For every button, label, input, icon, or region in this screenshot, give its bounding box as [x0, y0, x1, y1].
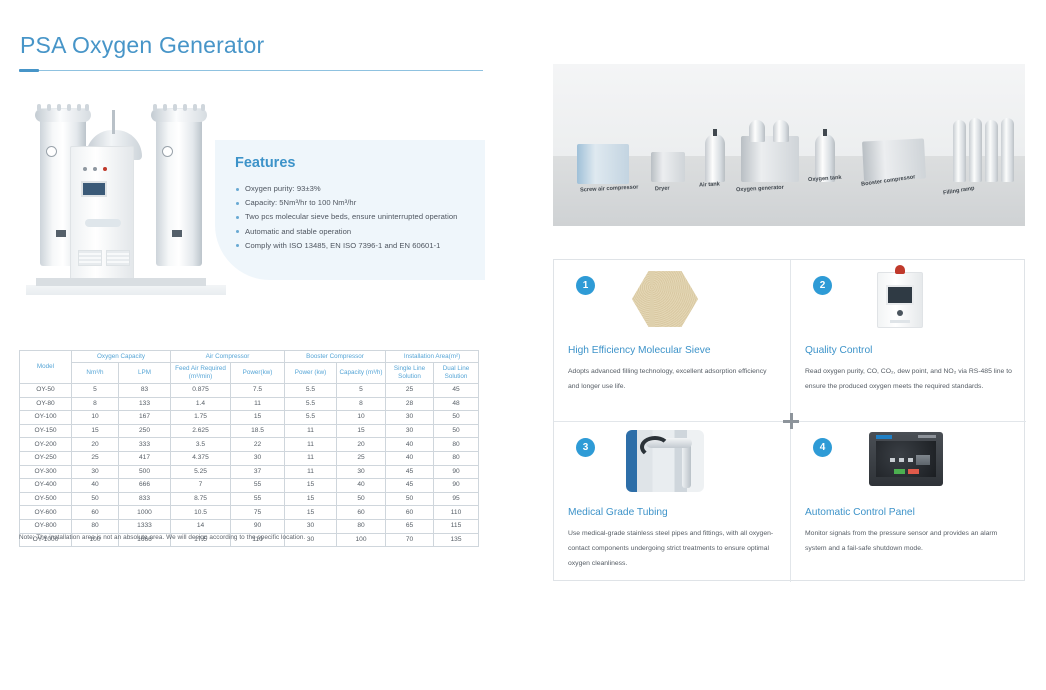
col-header-feed-air-required: Feed Air Required (m³/min) — [171, 363, 231, 384]
feature-item: Comply with ISO 13485, EN ISO 7396-1 and… — [236, 239, 475, 253]
cell-dual-line: 80 — [434, 451, 479, 465]
cell-nm3h: 40 — [72, 479, 119, 493]
cell-lpm: 167 — [119, 411, 171, 425]
cell-single-line: 40 — [386, 438, 434, 452]
card-description: Adopts advanced filling technology, exce… — [568, 364, 778, 394]
cell-booster-power: 11 — [285, 451, 337, 465]
table-row: OY-8008013331490308065115 — [20, 519, 479, 533]
card-title: Quality Control — [805, 345, 1016, 356]
table-row: OY-100101671.75155.5103050 — [20, 411, 479, 425]
cell-nm3h: 15 — [72, 424, 119, 438]
label-dryer: Dryer — [655, 186, 670, 193]
col-header-booster-capacity: Capacity (m³/h) — [337, 363, 386, 384]
cell-lpm: 133 — [119, 397, 171, 411]
cell-model: OY-500 — [20, 492, 72, 506]
hmi-brand-logo — [876, 435, 892, 439]
indicator-led-2 — [93, 167, 97, 171]
right-column: Screw air compressor Dryer Air tank Oxyg… — [553, 0, 1028, 690]
cell-model: OY-200 — [20, 438, 72, 452]
product-pipe — [112, 110, 115, 134]
cell-dual-line: 110 — [434, 506, 479, 520]
cell-nm3h: 60 — [72, 506, 119, 520]
oxygen-gen-vessel-b — [773, 120, 789, 142]
oxygen-tank-nozzle — [823, 129, 827, 136]
cell-booster-capacity: 50 — [337, 492, 386, 506]
title-divider-accent — [19, 69, 39, 72]
cell-nm3h: 30 — [72, 465, 119, 479]
table-note: Note: The installation area is not an ab… — [19, 534, 305, 541]
cell-booster-power: 5.5 — [285, 397, 337, 411]
filling-cylinder-3 — [985, 120, 998, 182]
analyzer-knob — [897, 310, 903, 316]
cell-dual-line: 95 — [434, 492, 479, 506]
table-row: OY-250254174.3753011254080 — [20, 451, 479, 465]
vessel-tag-left — [56, 230, 66, 237]
cell-booster-power: 11 — [285, 465, 337, 479]
cell-feed-air: 3.5 — [171, 438, 231, 452]
label-air-tank: Air tank — [699, 181, 720, 188]
cell-air-power: 30 — [231, 451, 285, 465]
page-title: PSA Oxygen Generator — [20, 32, 264, 59]
col-header-booster-power: Power (kw) — [285, 363, 337, 384]
col-group-booster-compressor: Booster Compressor — [285, 351, 386, 363]
feature-item: Automatic and stable operation — [236, 225, 475, 239]
cell-model: OY-80 — [20, 397, 72, 411]
feature-card-molecular-sieve: 1 High Efficiency Molecular Sieve Adopts… — [554, 260, 790, 421]
table-row: OY-8081331.4115.582848 — [20, 397, 479, 411]
card-description: Use medical-grade stainless steel pipes … — [568, 526, 778, 571]
cell-air-power: 37 — [231, 465, 285, 479]
table-row: OY-505830.8757.55.552545 — [20, 384, 479, 398]
col-header-lpm: LPM — [119, 363, 171, 384]
hmi-display — [876, 441, 936, 477]
vessel-bolts-right — [151, 104, 207, 111]
col-group-oxygen-capacity: Oxygen Capacity — [72, 351, 171, 363]
features-heading: Features — [235, 155, 295, 171]
cell-single-line: 70 — [386, 533, 434, 547]
cell-lpm: 666 — [119, 479, 171, 493]
feature-item: Capacity: 5Nm³/hr to 100 Nm³/hr — [236, 196, 475, 210]
cell-booster-power: 11 — [285, 438, 337, 452]
cell-lpm: 833 — [119, 492, 171, 506]
cell-feed-air: 1.75 — [171, 411, 231, 425]
cell-lpm: 1000 — [119, 506, 171, 520]
feature-item: Oxygen purity: 93±3% — [236, 182, 475, 196]
stainless-steel-tubing-image — [626, 430, 704, 492]
vessel-tag-right — [172, 230, 182, 237]
cell-booster-power: 15 — [285, 506, 337, 520]
feature-card-quality-control: 2 Quality Control Read oxygen purity, CO… — [790, 260, 1026, 421]
features-card: Features Oxygen purity: 93±3% Capacity: … — [215, 140, 485, 280]
table-row: OY-4004066675515404590 — [20, 479, 479, 493]
cell-booster-power: 5.5 — [285, 384, 337, 398]
oxygen-gen-vessel-a — [749, 120, 765, 142]
cell-lpm: 500 — [119, 465, 171, 479]
feature-item: Two pcs molecular sieve beds, ensure uni… — [236, 210, 475, 224]
table-row: OY-200203333.52211204080 — [20, 438, 479, 452]
table-row: OY-300305005.253711304590 — [20, 465, 479, 479]
filling-cylinder-2 — [969, 118, 982, 182]
equipment-booster-compressor — [862, 138, 926, 181]
col-header-nm3h: Nm³/h — [72, 363, 119, 384]
hmi-readout — [916, 455, 930, 465]
cell-booster-capacity: 15 — [337, 424, 386, 438]
equipment-dryer — [651, 152, 685, 182]
cell-lpm: 333 — [119, 438, 171, 452]
cell-model: OY-400 — [20, 479, 72, 493]
analyzer-display — [886, 285, 914, 305]
filling-cylinder-4 — [1001, 118, 1014, 182]
cell-single-line: 60 — [386, 506, 434, 520]
cell-dual-line: 115 — [434, 519, 479, 533]
cell-model: OY-600 — [20, 506, 72, 520]
card-title: Automatic Control Panel — [805, 507, 1016, 518]
cell-feed-air: 4.375 — [171, 451, 231, 465]
cell-booster-capacity: 10 — [337, 411, 386, 425]
cell-nm3h: 80 — [72, 519, 119, 533]
analyzer-brand-logo — [890, 320, 910, 323]
cell-booster-power: 5.5 — [285, 411, 337, 425]
cell-nm3h: 5 — [72, 384, 119, 398]
cell-single-line: 45 — [386, 465, 434, 479]
cell-air-power: 55 — [231, 479, 285, 493]
feature-cards-grid: 1 High Efficiency Molecular Sieve Adopts… — [553, 259, 1025, 581]
cell-nm3h: 25 — [72, 451, 119, 465]
product-image — [26, 100, 226, 295]
cabinet-hmi-screen — [81, 181, 107, 197]
cell-lpm: 1333 — [119, 519, 171, 533]
cell-air-power: 18.5 — [231, 424, 285, 438]
cell-single-line: 30 — [386, 411, 434, 425]
cell-booster-capacity: 60 — [337, 506, 386, 520]
cell-single-line: 30 — [386, 424, 434, 438]
cell-single-line: 28 — [386, 397, 434, 411]
cell-dual-line: 135 — [434, 533, 479, 547]
cell-dual-line: 50 — [434, 424, 479, 438]
cell-single-line: 25 — [386, 384, 434, 398]
col-header-model: Model — [20, 351, 72, 384]
table-row: OY-60060100010.575156060110 — [20, 506, 479, 520]
cell-booster-capacity: 80 — [337, 519, 386, 533]
feature-card-control-panel: 4 Automatic Control Panel Monitor signal… — [790, 421, 1026, 582]
filling-cylinder-1 — [953, 120, 966, 182]
cell-feed-air: 14 — [171, 519, 231, 533]
cell-dual-line: 45 — [434, 384, 479, 398]
col-header-single-line-solution: Single Line Solution — [386, 363, 434, 384]
card-number-badge: 4 — [813, 438, 832, 457]
specification-table: Model Oxygen Capacity Air Compressor Boo… — [19, 350, 479, 547]
cell-lpm: 417 — [119, 451, 171, 465]
tubing-hose — [640, 436, 670, 458]
cell-booster-capacity: 20 — [337, 438, 386, 452]
cell-model: OY-800 — [20, 519, 72, 533]
cell-dual-line: 90 — [434, 479, 479, 493]
title-divider — [19, 70, 483, 71]
hmi-model-text — [918, 435, 936, 438]
cell-model: OY-300 — [20, 465, 72, 479]
hmi-stop-button — [908, 469, 919, 474]
air-tank-nozzle — [713, 129, 717, 136]
cell-air-power: 15 — [231, 411, 285, 425]
feature-card-medical-tubing: 3 Medical Grade Tubing Use medical-grade… — [554, 421, 790, 582]
cell-single-line: 40 — [386, 451, 434, 465]
cell-feed-air: 1.4 — [171, 397, 231, 411]
cell-lpm: 83 — [119, 384, 171, 398]
table-row: OY-500508338.755515505095 — [20, 492, 479, 506]
cell-nm3h: 20 — [72, 438, 119, 452]
cell-booster-capacity: 25 — [337, 451, 386, 465]
quality-control-analyzer-image — [877, 272, 923, 328]
features-list: Oxygen purity: 93±3% Capacity: 5Nm³/hr t… — [236, 182, 475, 253]
cell-booster-power: 15 — [285, 492, 337, 506]
cell-dual-line: 90 — [434, 465, 479, 479]
cell-booster-capacity: 8 — [337, 397, 386, 411]
equipment-air-tank — [705, 134, 725, 182]
cell-air-power: 22 — [231, 438, 285, 452]
cell-air-power: 55 — [231, 492, 285, 506]
col-group-air-compressor: Air Compressor — [171, 351, 285, 363]
table-row: OY-150152502.62518.511153050 — [20, 424, 479, 438]
cell-dual-line: 80 — [434, 438, 479, 452]
cell-nm3h: 10 — [72, 411, 119, 425]
card-description: Read oxygen purity, CO, CO₂, dew point, … — [805, 364, 1014, 394]
cell-booster-power: 30 — [285, 519, 337, 533]
product-floor — [26, 285, 226, 295]
cell-air-power: 75 — [231, 506, 285, 520]
cell-feed-air: 0.875 — [171, 384, 231, 398]
cell-air-power: 90 — [231, 519, 285, 533]
plant-room-scene-image: Screw air compressor Dryer Air tank Oxyg… — [553, 64, 1025, 226]
cell-single-line: 45 — [386, 479, 434, 493]
left-column: PSA Oxygen Generator — [0, 0, 520, 690]
plus-divider-icon — [783, 413, 799, 429]
pressure-gauge-right — [162, 146, 173, 157]
cell-dual-line: 50 — [434, 411, 479, 425]
cell-booster-capacity: 30 — [337, 465, 386, 479]
indicator-led-alarm — [103, 167, 107, 171]
card-title: High Efficiency Molecular Sieve — [568, 345, 780, 356]
cell-feed-air: 7 — [171, 479, 231, 493]
card-number-badge: 2 — [813, 276, 832, 295]
card-number-badge: 3 — [576, 438, 595, 457]
cell-feed-air: 10.5 — [171, 506, 231, 520]
cell-air-power: 7.5 — [231, 384, 285, 398]
molecular-sieve-hexagon-icon — [632, 270, 698, 328]
table-group-header-row: Model Oxygen Capacity Air Compressor Boo… — [20, 351, 479, 363]
adsorber-vessel-right — [156, 114, 202, 266]
equipment-oxygen-generator — [741, 136, 799, 182]
cell-model: OY-250 — [20, 451, 72, 465]
table-body: OY-505830.8757.55.552545 OY-8081331.4115… — [20, 384, 479, 547]
cell-model: OY-50 — [20, 384, 72, 398]
cell-booster-capacity: 100 — [337, 533, 386, 547]
cell-feed-air: 5.25 — [171, 465, 231, 479]
alarm-lamp-icon — [895, 265, 905, 274]
cell-booster-power: 15 — [285, 479, 337, 493]
cell-nm3h: 8 — [72, 397, 119, 411]
cell-single-line: 50 — [386, 492, 434, 506]
brand-logo — [85, 219, 121, 227]
cell-model: OY-100 — [20, 411, 72, 425]
cell-booster-power: 11 — [285, 424, 337, 438]
card-title: Medical Grade Tubing — [568, 507, 780, 518]
cell-feed-air: 8.75 — [171, 492, 231, 506]
vessel-bolts-left — [35, 104, 91, 111]
cell-booster-capacity: 40 — [337, 479, 386, 493]
table-sub-header-row: Nm³/h LPM Feed Air Required (m³/min) Pow… — [20, 363, 479, 384]
col-header-dual-line-solution: Dual Line Solution — [434, 363, 479, 384]
hmi-start-button — [894, 469, 905, 474]
card-description: Monitor signals from the pressure sensor… — [805, 526, 1014, 556]
cell-model: OY-150 — [20, 424, 72, 438]
cell-single-line: 65 — [386, 519, 434, 533]
cell-booster-capacity: 5 — [337, 384, 386, 398]
pressure-gauge-left — [46, 146, 57, 157]
product-datasheet-page: PSA Oxygen Generator — [0, 0, 1046, 690]
product-skid-base — [36, 278, 206, 286]
equipment-screw-air-compressor — [577, 144, 629, 184]
cell-dual-line: 48 — [434, 397, 479, 411]
hmi-touch-panel-image — [869, 432, 943, 486]
col-group-installation-area: Installation Area(m²) — [386, 351, 479, 363]
vent-grille-right — [106, 250, 130, 266]
indicator-led-1 — [83, 167, 87, 171]
cell-feed-air: 2.625 — [171, 424, 231, 438]
cell-lpm: 250 — [119, 424, 171, 438]
tubing-vertical-pipe — [682, 444, 691, 488]
card-number-badge: 1 — [576, 276, 595, 295]
cell-air-power: 11 — [231, 397, 285, 411]
cell-nm3h: 50 — [72, 492, 119, 506]
vent-grille-left — [78, 250, 102, 266]
col-header-air-power: Power(kw) — [231, 363, 285, 384]
